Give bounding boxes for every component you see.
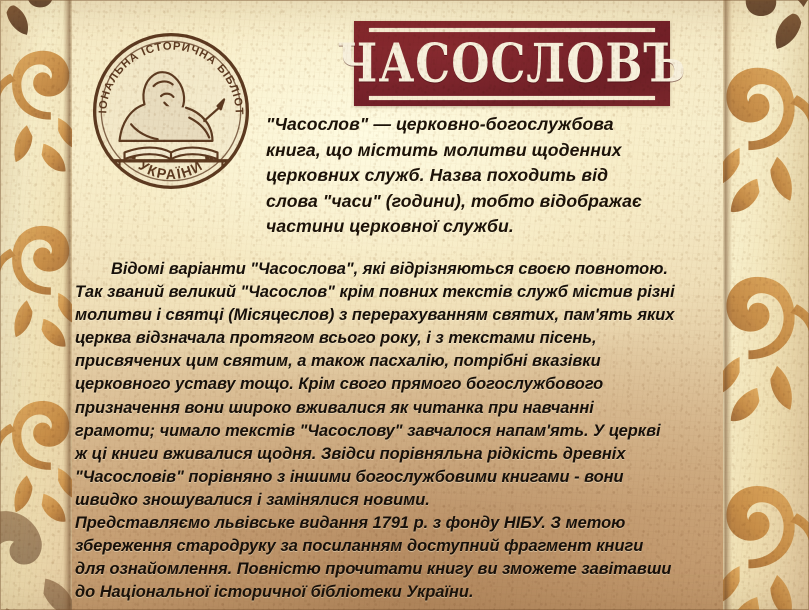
intro-paragraph: "Часослов" — церковно-богослужбова книга… bbox=[266, 112, 696, 240]
body-line: ж ці книги вживалися щодня. Звідси порів… bbox=[75, 443, 735, 466]
intro-line: церковних служб. Назва походить від bbox=[266, 163, 696, 189]
intro-line: книга, що містить молитви щоденних bbox=[266, 138, 696, 164]
body-line: молитви і святці (Місяцеслов) з перераху… bbox=[75, 304, 735, 327]
library-emblem: НАЦІОНАЛЬНА ІСТОРИЧНА БІБЛІОТЕКА ❖ УКРАЇ… bbox=[88, 28, 254, 194]
body-line: церква відзначала протягом всього року, … bbox=[75, 327, 735, 350]
title-banner: ЧАСОСЛОВЪ bbox=[354, 21, 670, 106]
library-seal-icon: НАЦІОНАЛЬНА ІСТОРИЧНА БІБЛІОТЕКА ❖ УКРАЇ… bbox=[88, 28, 254, 194]
left-border-edge-shadow bbox=[63, 0, 72, 610]
body-line: Відомі варіанти "Часослова", які відрізн… bbox=[75, 258, 735, 281]
right-ornament-border bbox=[723, 0, 809, 610]
body-line: для ознайомлення. Повністю прочитати кни… bbox=[75, 558, 735, 581]
banner-rule-bottom bbox=[369, 96, 655, 100]
intro-text: "Часослов" — церковно-богослужбова книга… bbox=[266, 112, 696, 240]
body-line: збереження стародруку за посиланням дост… bbox=[75, 535, 735, 558]
damask-pattern-right bbox=[723, 0, 809, 610]
body-line: Так званий великий "Часослов" крім повни… bbox=[75, 281, 735, 304]
body-line: "Часословів" порівняно з іншими богослуж… bbox=[75, 466, 735, 489]
body-line: до Національної історичної бібліотеки Ук… bbox=[75, 581, 735, 604]
slide-canvas: НАЦІОНАЛЬНА ІСТОРИЧНА БІБЛІОТЕКА ❖ УКРАЇ… bbox=[0, 0, 809, 610]
body-line: призначення вони широко вживалися як чит… bbox=[75, 397, 735, 420]
page-title: ЧАСОСЛОВЪ bbox=[351, 28, 673, 100]
intro-line: частини церковної служби. bbox=[266, 214, 696, 240]
body-line: Представляємо львівське видання 1791 р. … bbox=[75, 512, 735, 535]
body-paragraph: Відомі варіанти "Часослова", які відрізн… bbox=[75, 258, 735, 604]
left-ornament-border bbox=[0, 0, 72, 610]
body-text: Відомі варіанти "Часослова", які відрізн… bbox=[75, 258, 735, 604]
body-line: грамоти; чимало текстів "Часослову" завч… bbox=[75, 420, 735, 443]
body-line: швидко зношувалися і замінялися новими. bbox=[75, 489, 735, 512]
body-line: церковного уставу тощо. Крім свого прямо… bbox=[75, 373, 735, 396]
intro-line: "Часослов" — церковно-богослужбова bbox=[266, 112, 696, 138]
body-line: присвячених цим святим, а також пасхалію… bbox=[75, 350, 735, 373]
damask-pattern-left bbox=[0, 0, 72, 610]
intro-line: слова "часи" (години), тобто відображає bbox=[266, 189, 696, 215]
